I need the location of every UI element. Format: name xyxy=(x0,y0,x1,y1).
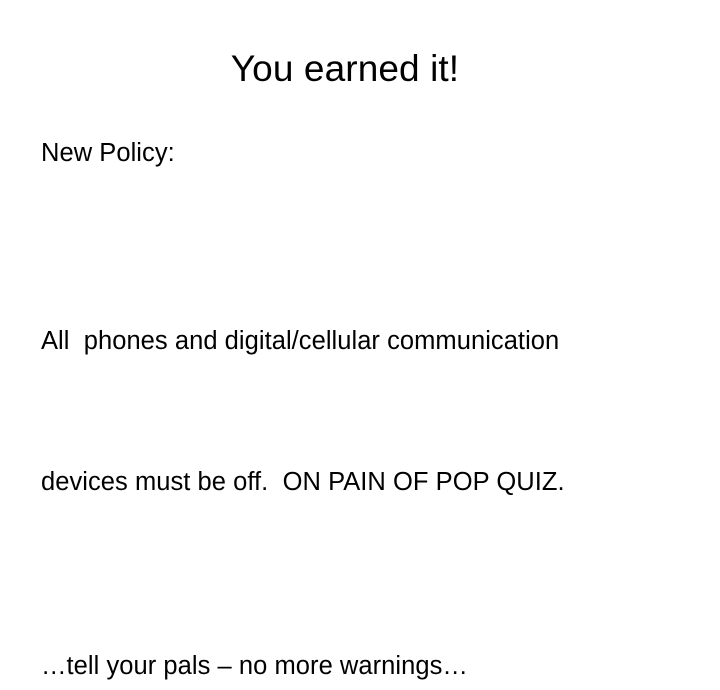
slide: You earned it! New Policy: All phones an… xyxy=(0,0,720,540)
body-spacer-two xyxy=(41,600,681,643)
body-heading: New Policy: xyxy=(41,130,681,177)
policy-line-1: All phones and digital/cellular communic… xyxy=(41,318,681,365)
policy-paragraph: All phones and digital/cellular communic… xyxy=(41,224,681,600)
slide-body-placeholder: New Policy: All phones and digital/cellu… xyxy=(41,130,681,690)
body-spacer-one xyxy=(41,177,681,224)
closing-note: …tell your pals – no more warnings… xyxy=(41,643,681,690)
slide-title: You earned it! xyxy=(0,46,690,92)
policy-line-2: devices must be off. ON PAIN OF POP QUIZ… xyxy=(41,459,681,506)
